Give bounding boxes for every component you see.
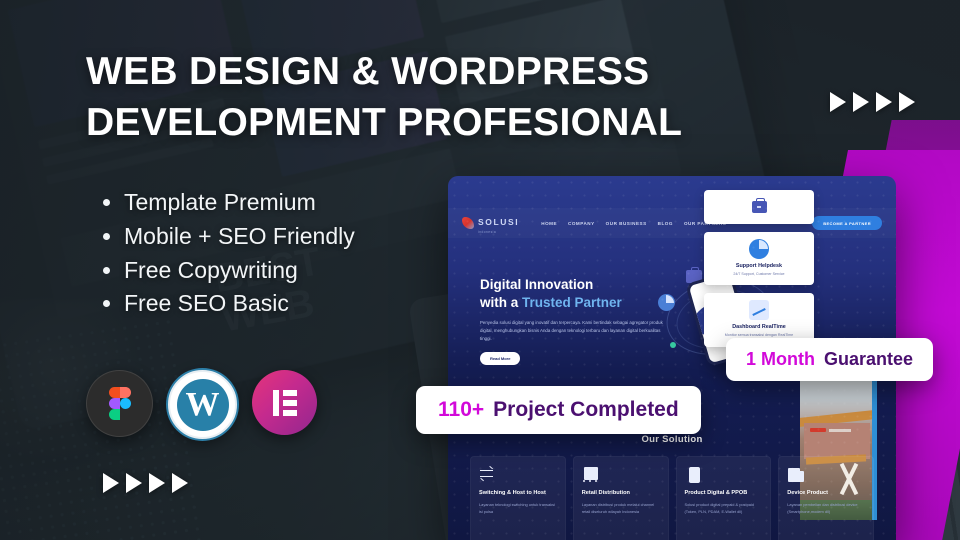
our-solution-section: Our Solution Switching & Host to Host La… [448, 434, 896, 540]
mockup-brand-name: SOLUSI [478, 217, 519, 227]
helpdesk-card-title: Support Helpdesk [710, 263, 808, 269]
arrow-decoration-top-right [830, 92, 915, 112]
headline-line-2: DEVELOPMENT PROFESIONAL [86, 97, 786, 148]
mockup-become-partner-button[interactable]: BECOME A PARTNER [812, 216, 882, 230]
mockup-menu-item-company[interactable]: COMPANY [568, 221, 595, 226]
mockup-hero-title-highlight: Trusted Partner [522, 295, 622, 310]
elementor-glyph [273, 390, 297, 416]
solution-card-switching[interactable]: Switching & Host to Host Layanan teknolo… [470, 456, 566, 540]
solution-card-ppob[interactable]: Product Digital & PPOB Solusi product di… [676, 456, 772, 540]
switching-arrows-icon [479, 466, 495, 482]
solusi-logo-mark [462, 217, 474, 229]
package-box-icon [582, 466, 598, 482]
list-item: Free SEO Basic [96, 287, 355, 321]
play-triangle-icon [172, 473, 188, 493]
play-triangle-icon [899, 92, 915, 112]
pie-chart-icon [658, 294, 675, 311]
building-sign-text [829, 429, 851, 432]
elementor-logo-icon[interactable] [252, 370, 317, 435]
solution-card-desc: Layanan pembelian dan distribusi device … [787, 502, 865, 516]
mockup-menu-item-blog[interactable]: BLOG [658, 221, 673, 226]
projects-count: 110+ [438, 398, 484, 422]
mockup-menu-item-home[interactable]: HOME [541, 221, 557, 226]
mockup-hero-title-line1: Digital Innovation [480, 277, 593, 292]
guarantee-label: Guarantee [824, 349, 913, 370]
mockup-menu-item-our-business[interactable]: OUR BUSINESS [606, 221, 647, 226]
building-sign [810, 428, 826, 432]
play-triangle-icon [830, 92, 846, 112]
list-item: Free Copywriting [96, 254, 355, 288]
mockup-brand-logo[interactable]: SOLUSI indonesia [462, 212, 519, 234]
wordpress-glyph: W [177, 379, 229, 431]
arrow-decoration-bottom-left [103, 473, 188, 493]
our-solution-title: Our Solution [470, 434, 874, 445]
solution-card-desc: Layanan teknologi switching untuk transa… [479, 502, 557, 516]
tool-logos: W [86, 370, 317, 439]
solution-card-desc: Layanan distribusi produk melalui channe… [582, 502, 660, 516]
guarantee-badge: 1 Month Guarantee [726, 338, 933, 381]
briefcase-card [704, 190, 814, 224]
play-triangle-icon [126, 473, 142, 493]
solution-card-title: Device Product [787, 489, 865, 497]
dashboard-card-title: Dashboard RealTime [710, 324, 808, 330]
guarantee-duration: 1 Month [746, 349, 815, 370]
projects-completed-badge: 110+ Project Completed [416, 386, 701, 434]
list-item: Template Premium [96, 186, 355, 220]
helpdesk-card-desc: 24/7 Support, Customer Service [710, 272, 808, 278]
mobile-payment-icon [685, 466, 701, 482]
feature-list: Template Premium Mobile + SEO Friendly F… [96, 186, 355, 321]
play-triangle-icon [103, 473, 119, 493]
device-product-icon [787, 466, 803, 482]
support-helpdesk-card: Support Helpdesk 24/7 Support, Customer … [704, 232, 814, 285]
projects-label: Project Completed [493, 398, 679, 422]
helpdesk-pie-icon [749, 239, 769, 259]
solution-card-retail[interactable]: Retail Distribution Layanan distribusi p… [573, 456, 669, 540]
mockup-brand-tagline: indonesia [478, 230, 519, 234]
mockup-hero-paragraph: Penyedia solusi digital yang inovatif da… [480, 319, 670, 343]
solution-card-title: Product Digital & PPOB [685, 489, 763, 497]
our-solution-grid: Switching & Host to Host Layanan teknolo… [470, 456, 874, 540]
play-triangle-icon [853, 92, 869, 112]
headline-line-1: WEB DESIGN & WORDPRESS [86, 50, 649, 93]
page-title: WEB DESIGN & WORDPRESS DEVELOPMENT PROFE… [86, 46, 786, 149]
play-triangle-icon [149, 473, 165, 493]
list-item: Mobile + SEO Friendly [96, 220, 355, 254]
mockup-navbar: SOLUSI indonesia HOME COMPANY OUR BUSINE… [448, 208, 896, 238]
solution-card-device[interactable]: Device Product Layanan pembelian dan dis… [778, 456, 874, 540]
figma-glyph [109, 387, 131, 420]
solution-card-title: Switching & Host to Host [479, 489, 557, 497]
mockup-side-cards: Support Helpdesk 24/7 Support, Customer … [704, 190, 814, 347]
poster-canvas: BESTDESIGN BESTWEB SOLUSI indonesia HOME… [0, 0, 960, 540]
figma-logo-icon[interactable] [86, 370, 153, 437]
solution-card-title: Retail Distribution [582, 489, 660, 497]
briefcase-icon [752, 201, 767, 213]
mockup-hero-copy: Digital Innovation with a Trusted Partne… [480, 276, 670, 365]
mockup-hero-title: Digital Innovation with a Trusted Partne… [480, 276, 670, 312]
solution-card-desc: Solusi product digital prepaid & postpai… [685, 502, 763, 516]
mockup-menu: HOME COMPANY OUR BUSINESS BLOG OUR PARTN… [541, 221, 726, 226]
wordpress-logo-icon[interactable]: W [168, 370, 237, 439]
accent-dot-icon [670, 342, 676, 348]
mockup-hero-title-line2-plain: with a [480, 295, 522, 310]
play-triangle-icon [876, 92, 892, 112]
mockup-read-more-button[interactable]: Read More [480, 352, 520, 365]
mockup-brand-text-wrap: SOLUSI indonesia [478, 212, 519, 234]
dashboard-chart-icon [749, 300, 769, 320]
